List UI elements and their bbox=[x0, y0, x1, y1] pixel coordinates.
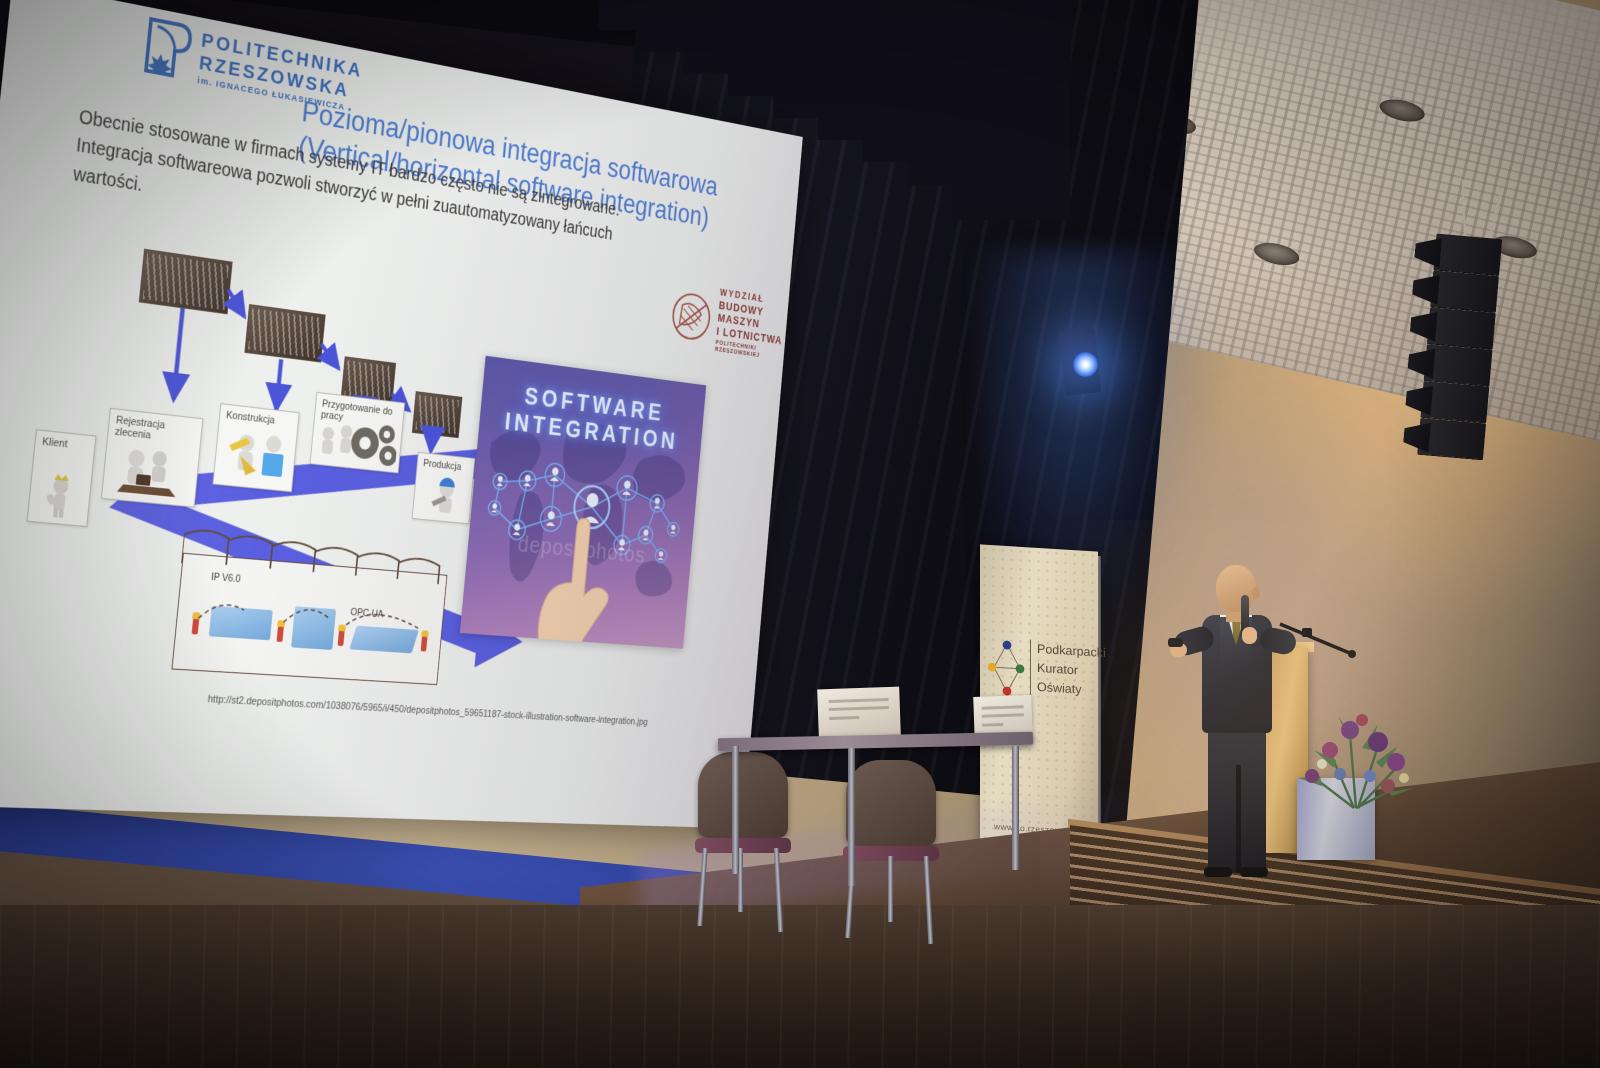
projection-screen: POLITECHNIKA RZESZOWSKA im. IGNACEGO ŁUK… bbox=[0, 0, 803, 828]
factory-protocol-label: IP V6.0 bbox=[211, 571, 241, 585]
software-integration-image: SOFTWARE INTEGRATION bbox=[460, 356, 706, 649]
banner-text: Podkarpacki Kurator Oświaty bbox=[1030, 639, 1106, 700]
process-card: Klient bbox=[27, 429, 97, 527]
kurator-oswiaty-logo-icon bbox=[988, 637, 1026, 701]
process-card-label: Konstrukcja bbox=[226, 410, 294, 429]
faculty-logo: WYDZIAŁ BUDOWY MASZYN I LOTNICTWA POLITE… bbox=[668, 280, 789, 363]
scene-root: POLITECHNIKA RZESZOWSKA im. IGNACEGO ŁUK… bbox=[0, 0, 1600, 1068]
process-card-label: Rejestracja zlecenia bbox=[114, 414, 195, 446]
table-leg bbox=[732, 746, 739, 874]
process-card: Rejestracja zlecenia bbox=[101, 408, 203, 508]
presenter bbox=[1168, 565, 1298, 880]
factory-block: IP V6.0 OPC-UA bbox=[171, 553, 447, 685]
faculty-emblem-icon bbox=[668, 288, 714, 345]
people-at-desk-icon bbox=[115, 443, 191, 502]
process-card: Przygotowanie do pracy bbox=[310, 392, 406, 474]
table-leg bbox=[848, 748, 855, 886]
slide-surface: POLITECHNIKA RZESZOWSKA im. IGNACEGO ŁUK… bbox=[0, 0, 803, 828]
auditorium-front-floor bbox=[0, 905, 1600, 1068]
person-figure-icon bbox=[41, 473, 78, 519]
gears-icon bbox=[316, 418, 399, 471]
process-card-label: Produkcja bbox=[423, 458, 472, 474]
floor-grain bbox=[0, 905, 1600, 1068]
pointing-hand-graphic bbox=[531, 506, 638, 649]
table-leg bbox=[1012, 746, 1019, 870]
worker-icon bbox=[425, 474, 466, 521]
presentation-remote bbox=[1168, 638, 1183, 647]
presenter-head bbox=[1216, 565, 1256, 612]
designer-icon bbox=[221, 429, 292, 487]
politechnika-rzeszowska-mark bbox=[142, 17, 195, 81]
blue-spotlight-lamp bbox=[1073, 352, 1098, 377]
factory-dataflow-arrows bbox=[175, 582, 444, 657]
name-placard bbox=[817, 687, 901, 738]
flower-arrangement bbox=[1292, 690, 1422, 810]
process-card-label: Klient bbox=[42, 436, 93, 453]
process-card: Konstrukcja bbox=[212, 403, 299, 492]
process-card: Produkcja bbox=[412, 452, 476, 525]
presenter-hand-with-mic bbox=[1242, 627, 1257, 644]
